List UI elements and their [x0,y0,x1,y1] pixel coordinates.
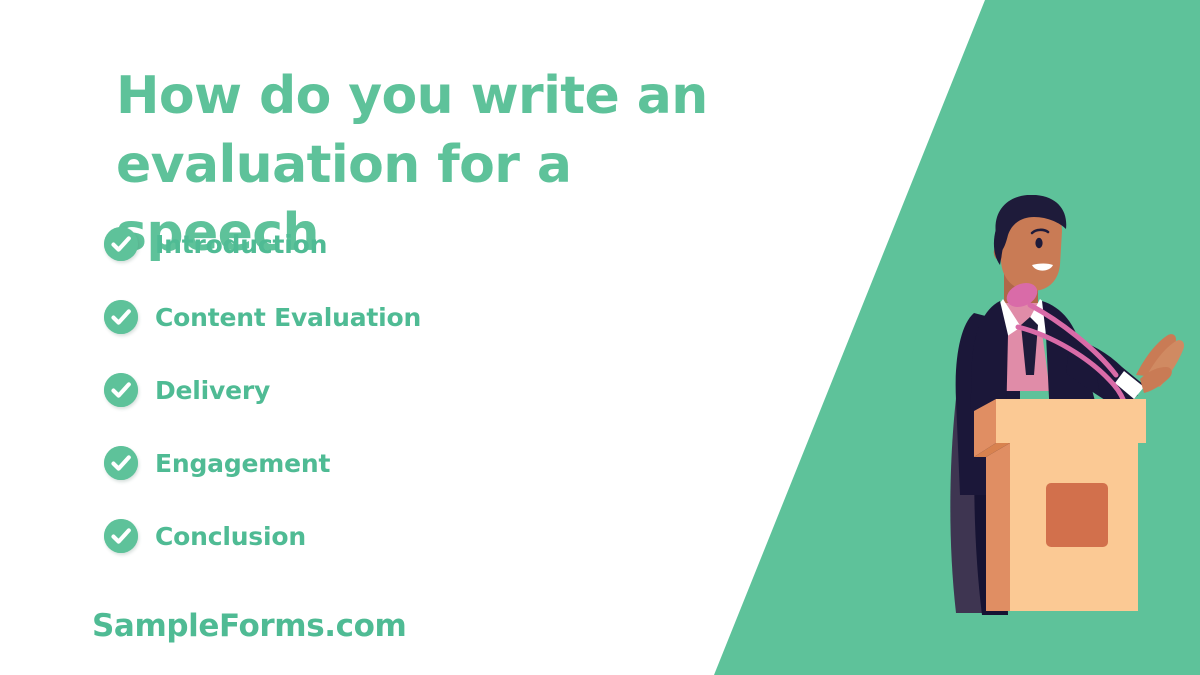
checklist: Introduction Content Evaluation [104,226,421,591]
check-circle-icon [104,227,138,261]
slide-canvas: How do you write an evaluation for a spe… [0,0,1200,675]
check-circle-icon [104,519,138,553]
left-content-column: How do you write an evaluation for a spe… [0,0,700,675]
list-item-label: Conclusion [155,522,306,551]
list-item-label: Engagement [155,449,330,478]
list-item: Conclusion [104,518,421,554]
list-item: Engagement [104,445,421,481]
check-circle-icon [104,446,138,480]
list-item-label: Introduction [155,230,327,259]
list-item-label: Delivery [155,376,270,405]
brand-watermark: SampleForms.com [92,608,406,644]
check-circle-icon [104,373,138,407]
list-item: Introduction [104,226,421,262]
list-item: Content Evaluation [104,299,421,335]
speaker-at-podium-illustration [900,195,1200,635]
list-item-label: Content Evaluation [155,303,421,332]
list-item: Delivery [104,372,421,408]
check-circle-icon [104,300,138,334]
